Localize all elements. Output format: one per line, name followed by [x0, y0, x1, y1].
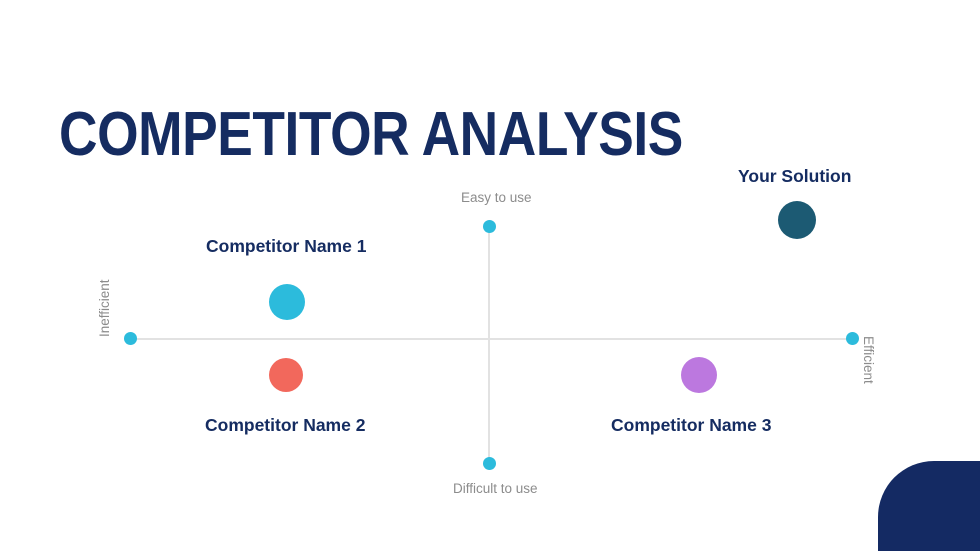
- x-axis-right-label: Efficient: [861, 336, 876, 384]
- bubble-point[interactable]: [269, 284, 305, 320]
- x-axis-right-endpoint-dot: [846, 332, 859, 345]
- x-axis-line: [130, 338, 855, 340]
- slide-canvas: COMPETITOR ANALYSIS Easy to use Difficul…: [0, 0, 980, 551]
- bubble-point-label: Competitor Name 3: [611, 415, 771, 436]
- y-axis-bottom-endpoint-dot: [483, 457, 496, 470]
- bubble-point[interactable]: [681, 357, 717, 393]
- x-axis-left-endpoint-dot: [124, 332, 137, 345]
- y-axis-bottom-label: Difficult to use: [453, 481, 538, 496]
- x-axis-left-label: Inefficient: [97, 279, 112, 337]
- y-axis-line: [488, 226, 490, 466]
- y-axis-top-label: Easy to use: [461, 190, 532, 205]
- y-axis-top-endpoint-dot: [483, 220, 496, 233]
- bubble-point[interactable]: [269, 358, 303, 392]
- bubble-point-label: Your Solution: [738, 166, 851, 187]
- bubble-point-label: Competitor Name 1: [206, 236, 366, 257]
- bubble-point-label: Competitor Name 2: [205, 415, 365, 436]
- bubble-point[interactable]: [778, 201, 816, 239]
- competitor-matrix-chart: Easy to use Difficult to use Inefficient…: [0, 0, 980, 551]
